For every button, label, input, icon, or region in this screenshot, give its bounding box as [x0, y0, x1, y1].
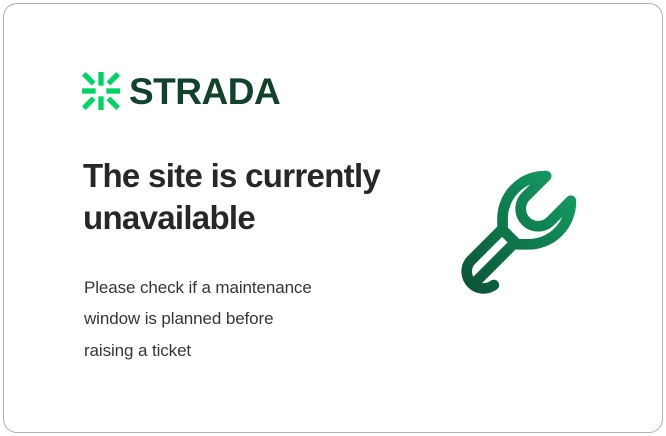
error-page: STRADA The site is currently unavailable…	[0, 0, 666, 436]
brand-wordmark: STRADA	[129, 73, 280, 110]
wrench-icon	[456, 162, 614, 317]
page-title: The site is currently unavailable	[83, 155, 413, 238]
page-description: Please check if a maintenance window is …	[84, 272, 384, 366]
strada-asterisk-icon	[82, 72, 120, 110]
brand-lockup: STRADA	[82, 72, 280, 110]
description-line: window is planned before	[84, 303, 384, 334]
description-line: raising a ticket	[84, 335, 384, 366]
status-card: STRADA The site is currently unavailable…	[3, 3, 663, 433]
description-line: Please check if a maintenance	[84, 272, 384, 303]
